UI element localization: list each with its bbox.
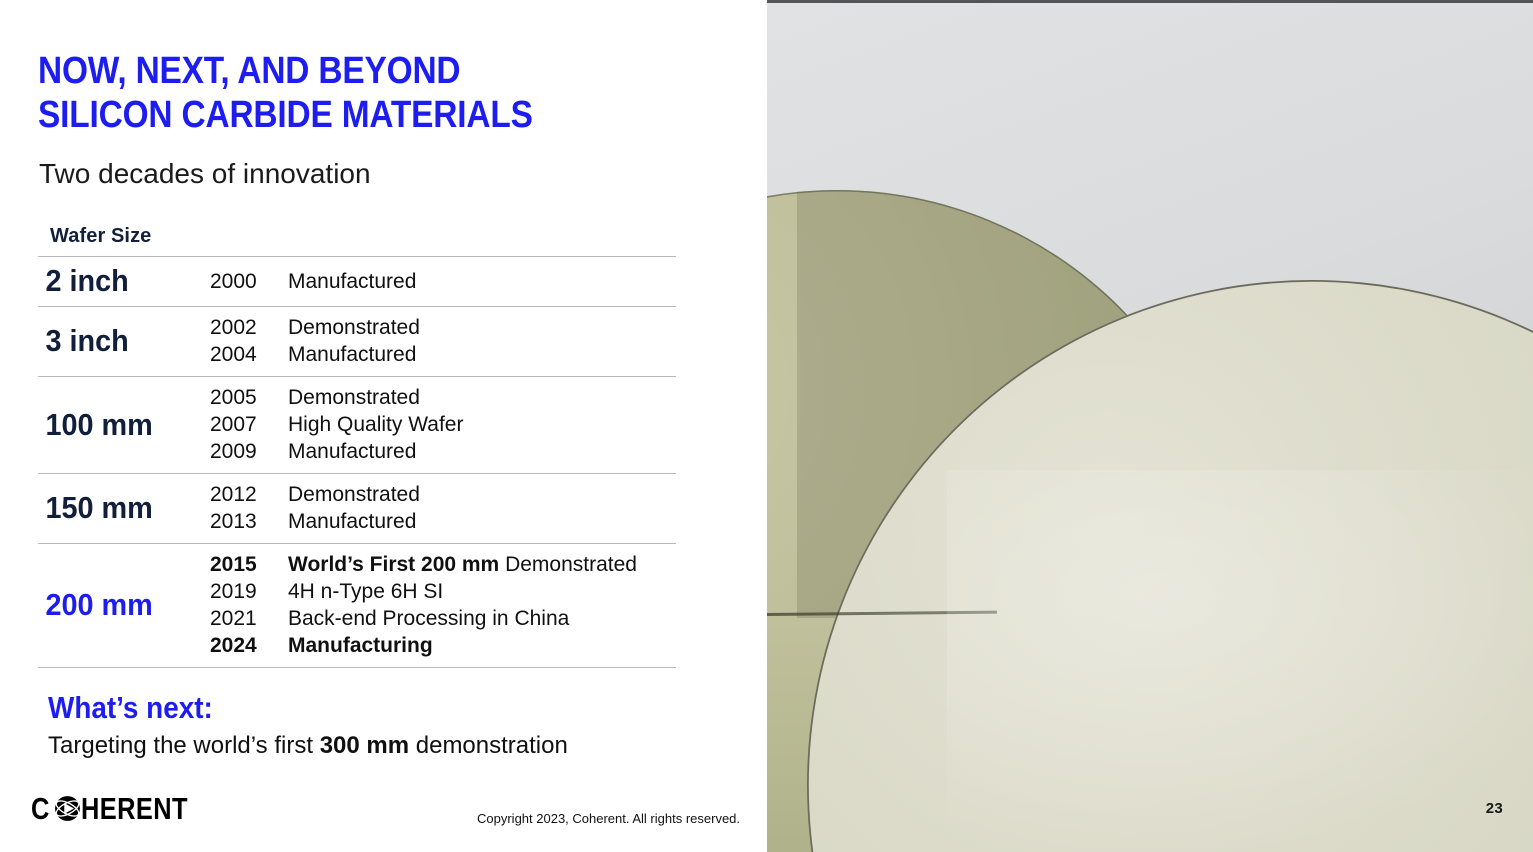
event-year: 2002 bbox=[210, 314, 288, 341]
page-subtitle: Two decades of innovation bbox=[39, 157, 371, 191]
event-line: 2015 World’s First 200 mm Demonstrated bbox=[210, 551, 676, 578]
wafer-size-label: 200 mm bbox=[38, 588, 198, 622]
wafer-size-label: 150 mm bbox=[38, 491, 198, 525]
event-year: 2012 bbox=[210, 481, 288, 508]
event-description: Manufactured bbox=[288, 341, 676, 368]
events-cell: 2015 World’s First 200 mm Demonstrated 2… bbox=[210, 551, 676, 659]
event-year: 2019 bbox=[210, 578, 288, 605]
event-description: Demonstrated bbox=[288, 384, 676, 411]
event-line: 2007 High Quality Wafer bbox=[210, 411, 676, 438]
logo-text-after: HERENT bbox=[81, 793, 188, 824]
title-line-1: NOW, NEXT, AND BEYOND bbox=[38, 49, 654, 93]
event-year: 2000 bbox=[210, 268, 288, 295]
event-year: 2015 bbox=[210, 551, 288, 578]
event-line: 2009 Manufactured bbox=[210, 438, 676, 465]
logo-text-before: C bbox=[31, 793, 50, 824]
page-title: NOW, NEXT, AND BEYOND SILICON CARBIDE MA… bbox=[38, 49, 738, 137]
table-row: 100 mm 2005 Demonstrated 2007 High Quali… bbox=[38, 377, 676, 473]
event-description: Manufactured bbox=[288, 508, 676, 535]
event-description: Manufactured bbox=[288, 438, 676, 465]
table-divider bbox=[38, 667, 676, 668]
event-year: 2009 bbox=[210, 438, 288, 465]
content-panel: NOW, NEXT, AND BEYOND SILICON CARBIDE MA… bbox=[0, 0, 767, 852]
page-number: 23 bbox=[1486, 800, 1503, 817]
events-cell: 2012 Demonstrated 2013 Manufactured bbox=[210, 481, 676, 535]
whats-next-block: What’s next: Targeting the world’s first… bbox=[48, 690, 568, 761]
events-cell: 2000 Manufactured bbox=[210, 268, 676, 295]
wafer-photo: 23 bbox=[767, 0, 1533, 852]
events-cell: 2005 Demonstrated 2007 High Quality Wafe… bbox=[210, 384, 676, 465]
event-line: 2012 Demonstrated bbox=[210, 481, 676, 508]
event-year: 2005 bbox=[210, 384, 288, 411]
event-line: 2024 Manufacturing bbox=[210, 632, 676, 659]
whats-next-text-emphasis: 300 mm bbox=[320, 732, 409, 759]
title-line-2: SILICON CARBIDE MATERIALS bbox=[38, 93, 654, 137]
event-year: 2024 bbox=[210, 632, 288, 659]
copyright-notice: Copyright 2023, Coherent. All rights res… bbox=[477, 810, 740, 827]
wafer-size-label: 3 inch bbox=[38, 324, 198, 358]
slide: NOW, NEXT, AND BEYOND SILICON CARBIDE MA… bbox=[0, 0, 1533, 852]
event-year: 2021 bbox=[210, 605, 288, 632]
wafer-size-label: 2 inch bbox=[38, 264, 198, 298]
whats-next-text-after: demonstration bbox=[409, 732, 568, 759]
event-description: Back-end Processing in China bbox=[288, 605, 676, 632]
event-description: 4H n-Type 6H SI bbox=[288, 578, 676, 605]
table-row: 150 mm 2012 Demonstrated 2013 Manufactur… bbox=[38, 474, 676, 543]
event-line: 2002 Demonstrated bbox=[210, 314, 676, 341]
event-description: Demonstrated bbox=[288, 481, 676, 508]
event-line: 2021 Back-end Processing in China bbox=[210, 605, 676, 632]
event-year: 2004 bbox=[210, 341, 288, 368]
event-line: 2000 Manufactured bbox=[210, 268, 676, 295]
table-header-wafer-size: Wafer Size bbox=[38, 225, 676, 256]
event-description: World’s First 200 mm Demonstrated bbox=[288, 551, 676, 578]
event-line: 2013 Manufactured bbox=[210, 508, 676, 535]
photo-top-border bbox=[767, 0, 1533, 3]
event-line: 2005 Demonstrated bbox=[210, 384, 676, 411]
table-row: 2 inch 2000 Manufactured bbox=[38, 257, 676, 306]
event-year: 2013 bbox=[210, 508, 288, 535]
event-description-rest: Demonstrated bbox=[499, 553, 637, 576]
coherent-logo: C HERENT bbox=[31, 792, 211, 824]
whats-next-text: Targeting the world’s first 300 mm demon… bbox=[48, 731, 568, 761]
events-cell: 2002 Demonstrated 2004 Manufactured bbox=[210, 314, 676, 368]
event-description-emphasis: World’s First 200 mm bbox=[288, 553, 499, 576]
whats-next-text-before: Targeting the world’s first bbox=[48, 732, 320, 759]
wafer-size-table: Wafer Size 2 inch 2000 Manufactured 3 in… bbox=[38, 225, 676, 668]
event-description: High Quality Wafer bbox=[288, 411, 676, 438]
whats-next-title: What’s next: bbox=[48, 690, 516, 726]
table-row: 3 inch 2002 Demonstrated 2004 Manufactur… bbox=[38, 307, 676, 376]
table-row: 200 mm 2015 World’s First 200 mm Demonst… bbox=[38, 544, 676, 667]
event-line: 2004 Manufactured bbox=[210, 341, 676, 368]
event-line: 2019 4H n-Type 6H SI bbox=[210, 578, 676, 605]
event-year: 2007 bbox=[210, 411, 288, 438]
globe-icon bbox=[54, 795, 81, 822]
wafer-size-label: 100 mm bbox=[38, 408, 198, 442]
event-description: Manufacturing bbox=[288, 632, 676, 659]
event-description: Manufactured bbox=[288, 268, 676, 295]
event-description: Demonstrated bbox=[288, 314, 676, 341]
